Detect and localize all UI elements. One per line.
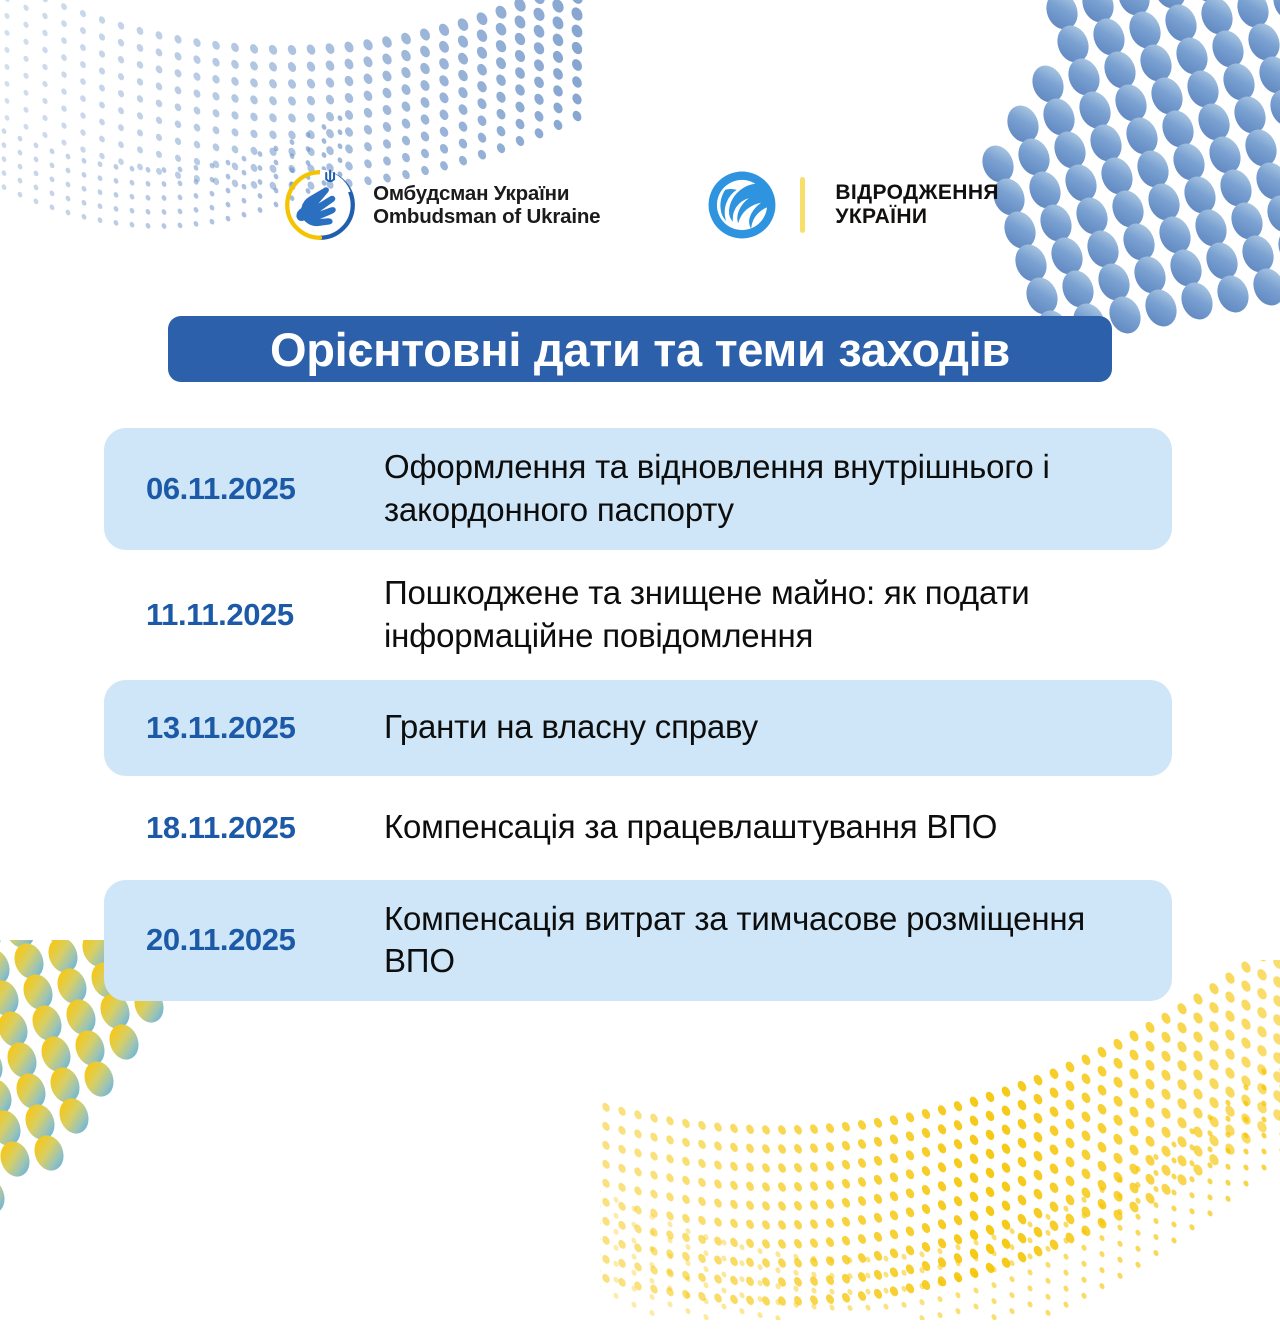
schedule-row-topic: Компенсація витрат за тимчасове розміщен… xyxy=(384,898,1148,984)
ombudsman-name-uk: Омбудсман України xyxy=(373,182,600,205)
logo-ombudsman: Омбудсман України Ombudsman of Ukraine xyxy=(281,166,600,244)
schedule-row-topic: Гранти на власну справу xyxy=(384,706,1148,749)
schedule-row: 11.11.2025Пошкоджене та знищене майно: я… xyxy=(104,554,1172,676)
schedule-row-date: 11.11.2025 xyxy=(126,597,384,633)
ombudsman-name-en: Ombudsman of Ukraine xyxy=(373,205,600,228)
schedule-row-topic: Компенсація за працевлаштування ВПО xyxy=(384,806,1148,849)
schedule-row-date: 20.11.2025 xyxy=(126,922,384,958)
vidrodzhennia-bird-emblem-icon xyxy=(704,167,780,243)
vidrodzhennia-line-1: ВІДРОДЖЕННЯ xyxy=(835,181,999,205)
logo-vertical-divider xyxy=(800,177,805,233)
schedule-row-date: 13.11.2025 xyxy=(126,710,384,746)
schedule-row: 13.11.2025Гранти на власну справу xyxy=(104,680,1172,776)
vidrodzhennia-line-2: УКРАЇНИ xyxy=(835,205,999,229)
schedule-row-date: 06.11.2025 xyxy=(126,471,384,507)
vidrodzhennia-logo-text: ВІДРОДЖЕННЯ УКРАЇНИ xyxy=(835,181,999,228)
page-title: Орієнтовні дати та теми заходів xyxy=(270,326,1010,373)
decorative-dots-bottom-right xyxy=(600,960,1280,1320)
schedule-row-topic: Оформлення та відновлення внутрішнього і… xyxy=(384,446,1148,532)
schedule-row: 18.11.2025Компенсація за працевлаштуванн… xyxy=(104,780,1172,876)
schedule-row-date: 18.11.2025 xyxy=(126,810,384,846)
title-banner: Орієнтовні дати та теми заходів xyxy=(168,316,1112,382)
logo-vidrodzhennia: ВІДРОДЖЕННЯ УКРАЇНИ xyxy=(704,167,999,243)
schedule-list: 06.11.2025Оформлення та відновлення внут… xyxy=(104,428,1172,1005)
schedule-row-topic: Пошкоджене та знищене майно: як подати і… xyxy=(384,572,1148,658)
logo-bar: Омбудсман України Ombudsman of Ukraine В… xyxy=(0,160,1280,250)
schedule-row: 20.11.2025Компенсація витрат за тимчасов… xyxy=(104,880,1172,1002)
ombudsman-logo-text: Омбудсман України Ombudsman of Ukraine xyxy=(373,182,600,229)
ombudsman-dove-emblem-icon xyxy=(281,166,359,244)
schedule-row: 06.11.2025Оформлення та відновлення внут… xyxy=(104,428,1172,550)
